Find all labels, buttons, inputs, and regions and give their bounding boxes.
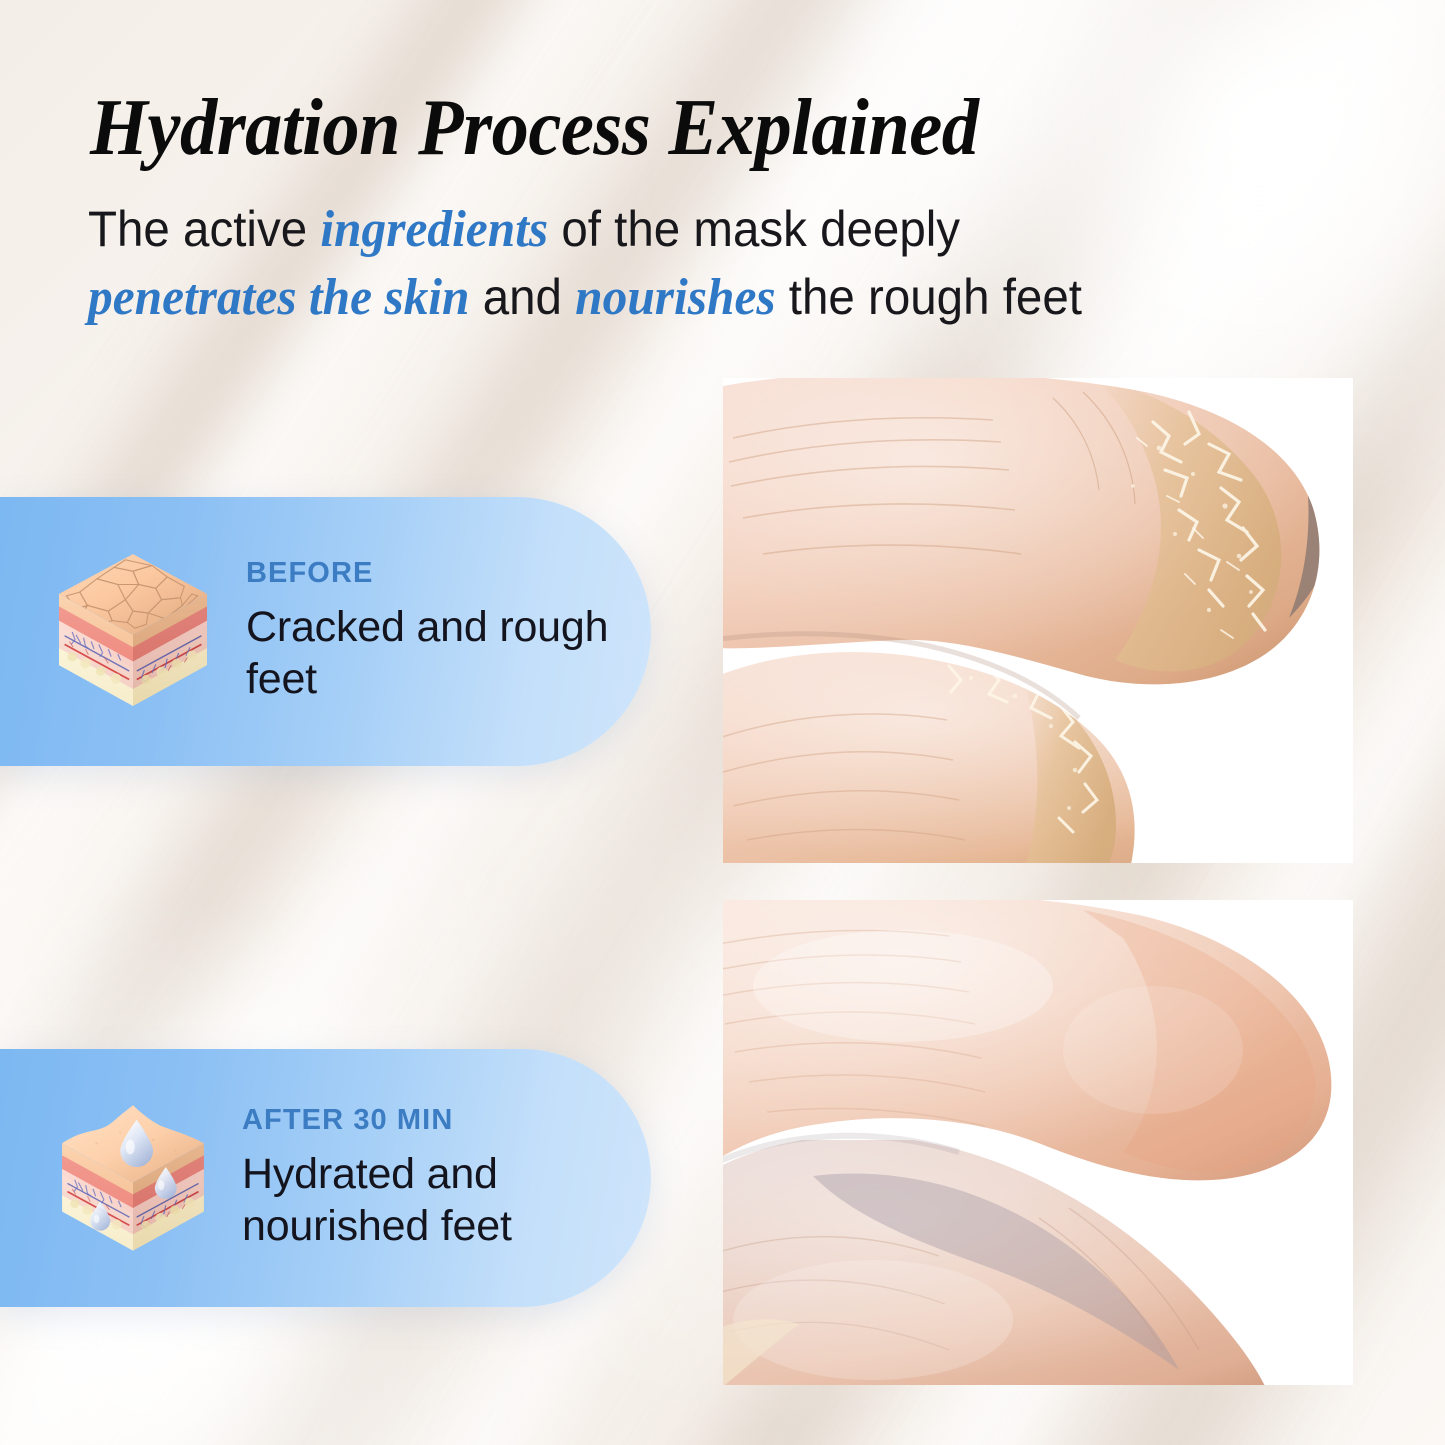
subtitle-plain-run: of the mask deeply <box>548 201 960 257</box>
skin-block-cracked-svg <box>38 537 228 727</box>
subtitle-plain-run: the rough feet <box>776 269 1082 325</box>
subtitle-accent-run: penetrates the skin <box>88 269 469 326</box>
subtitle-accent-run: ingredients <box>320 201 548 258</box>
card-after: AFTER 30 MIN Hydrated and nourished feet <box>0 1049 651 1307</box>
subtitle-accent-run: nourishes <box>575 269 775 326</box>
photo-before-art <box>723 378 1353 863</box>
page-title: Hydration Process Explained <box>90 88 1206 168</box>
skin-cross-section-cracked-icon <box>38 537 228 727</box>
card-before: BEFORE Cracked and rough feet <box>0 497 651 766</box>
subtitle-plain-run: and <box>469 269 575 325</box>
card-after-text: AFTER 30 MIN Hydrated and nourished feet <box>224 1104 651 1252</box>
page-subtitle: The active ingredients of the mask deepl… <box>88 196 1152 331</box>
card-before-text: BEFORE Cracked and rough feet <box>228 557 651 705</box>
infographic-stage: Hydration Process Explained The active i… <box>0 0 1445 1445</box>
photo-after-art <box>723 900 1353 1385</box>
skin-block-hydrated-svg <box>42 1087 224 1269</box>
skin-cross-section-hydrated-icon <box>42 1087 224 1269</box>
card-before-kicker: BEFORE <box>246 557 651 590</box>
card-after-body: Hydrated and nourished feet <box>242 1149 651 1252</box>
card-before-body: Cracked and rough feet <box>246 602 651 705</box>
photo-cracked-dry-heels <box>723 378 1353 863</box>
photo-smooth-hydrated-heels <box>723 900 1353 1385</box>
card-after-kicker: AFTER 30 MIN <box>242 1104 651 1137</box>
subtitle-plain-run: The active <box>88 201 320 257</box>
